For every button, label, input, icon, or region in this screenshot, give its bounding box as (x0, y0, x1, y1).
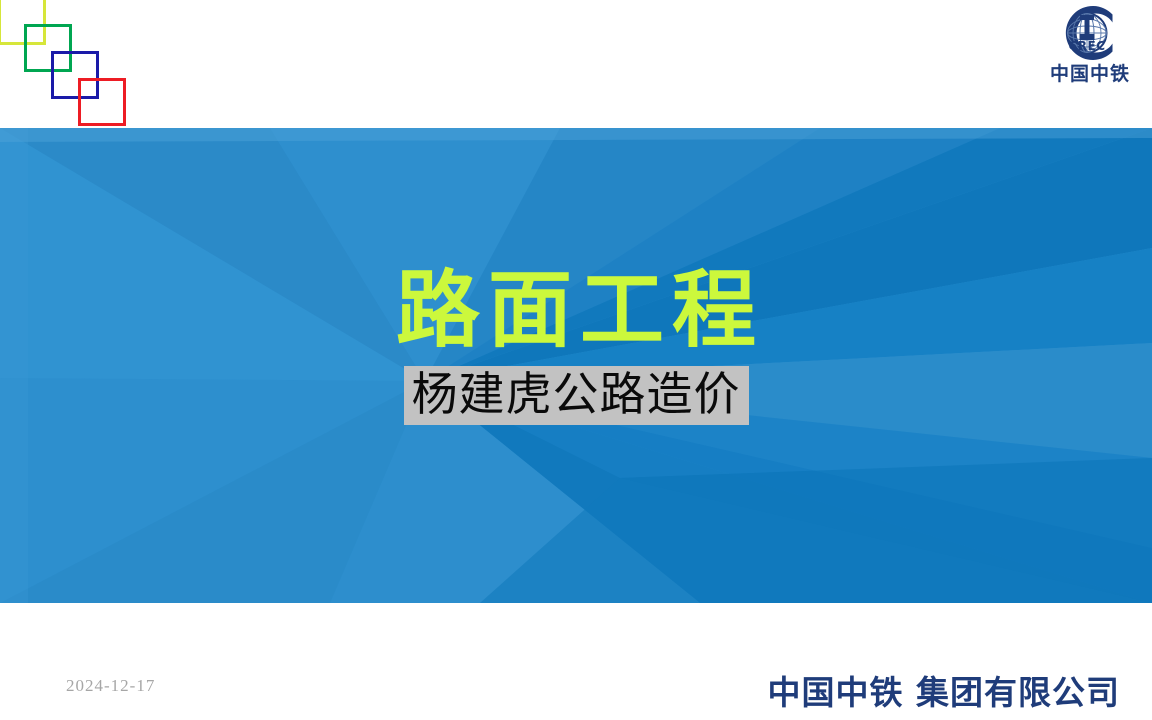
crec-globe-rail-icon: CREC (1054, 2, 1126, 64)
crec-logo-wordmark: 中国中铁 (1050, 65, 1130, 84)
page-subtitle: 杨建虎公路造价 (404, 366, 749, 425)
crec-logo: CREC 中国中铁 (1038, 2, 1142, 94)
presentation-title-slide: CREC 中国中铁 (0, 0, 1152, 720)
footer-company-name: 中国中铁 集团有限公司 (768, 666, 1121, 714)
title-banner: 路面工程 杨建虎公路造价 (0, 128, 1152, 603)
page-title: 路面工程 (388, 268, 764, 354)
title-text-stack: 路面工程 杨建虎公路造价 (0, 128, 1152, 603)
red-square-icon (78, 78, 126, 126)
footer-date: 2024-12-17 (66, 676, 155, 696)
svg-text:CREC: CREC (1068, 39, 1105, 53)
